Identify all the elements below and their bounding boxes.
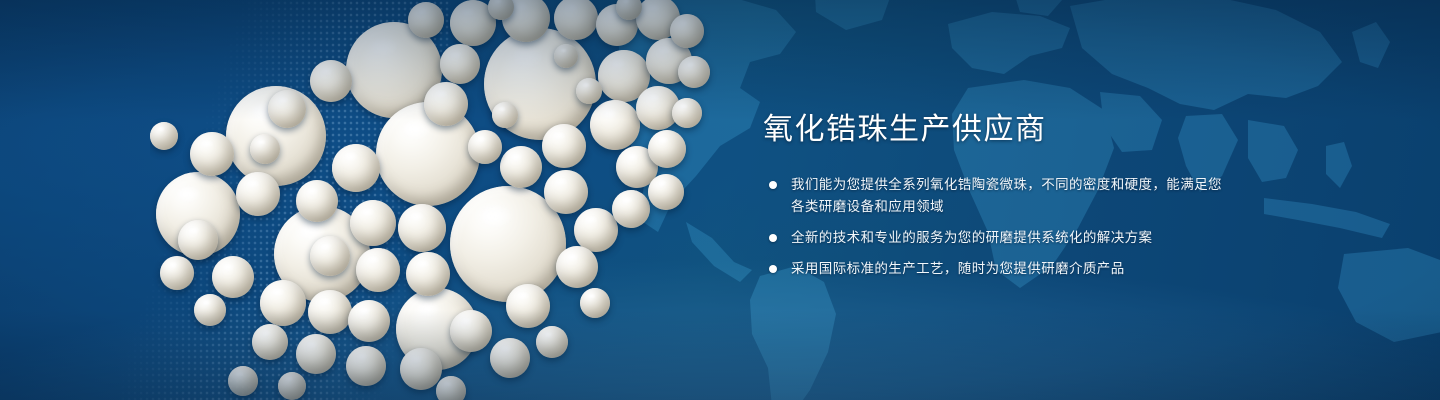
feature-bullet-text: 采用国际标准的生产工艺，随时为您提供研磨介质产品 [791,261,1125,276]
bullet-circle-icon [769,234,777,242]
banner-headline: 氧化锆珠生产供应商 [763,104,1233,148]
bullet-circle-icon [769,265,777,273]
feature-bullet-text: 我们能为您提供全系列氧化锆陶瓷微珠，不同的密度和硬度，能满足您各类研磨设备和应用… [791,177,1222,214]
feature-bullet-list: 我们能为您提供全系列氧化锆陶瓷微珠，不同的密度和硬度，能满足您各类研磨设备和应用… [763,174,1233,280]
feature-bullet-text: 全新的技术和专业的服务为您的研磨提供系统化的解决方案 [791,230,1152,245]
feature-bullet-item: 全新的技术和专业的服务为您的研磨提供系统化的解决方案 [763,227,1233,249]
feature-bullet-item: 我们能为您提供全系列氧化锆陶瓷微珠，不同的密度和硬度，能满足您各类研磨设备和应用… [763,174,1233,218]
hero-banner: 氧化锆珠生产供应商 我们能为您提供全系列氧化锆陶瓷微珠，不同的密度和硬度，能满足… [0,0,1440,400]
bullet-circle-icon [769,181,777,189]
bottom-shadow-overlay [0,310,1440,400]
top-shadow-overlay [0,0,1440,120]
banner-copy: 氧化锆珠生产供应商 我们能为您提供全系列氧化锆陶瓷微珠，不同的密度和硬度，能满足… [763,104,1233,280]
feature-bullet-item: 采用国际标准的生产工艺，随时为您提供研磨介质产品 [763,258,1233,280]
